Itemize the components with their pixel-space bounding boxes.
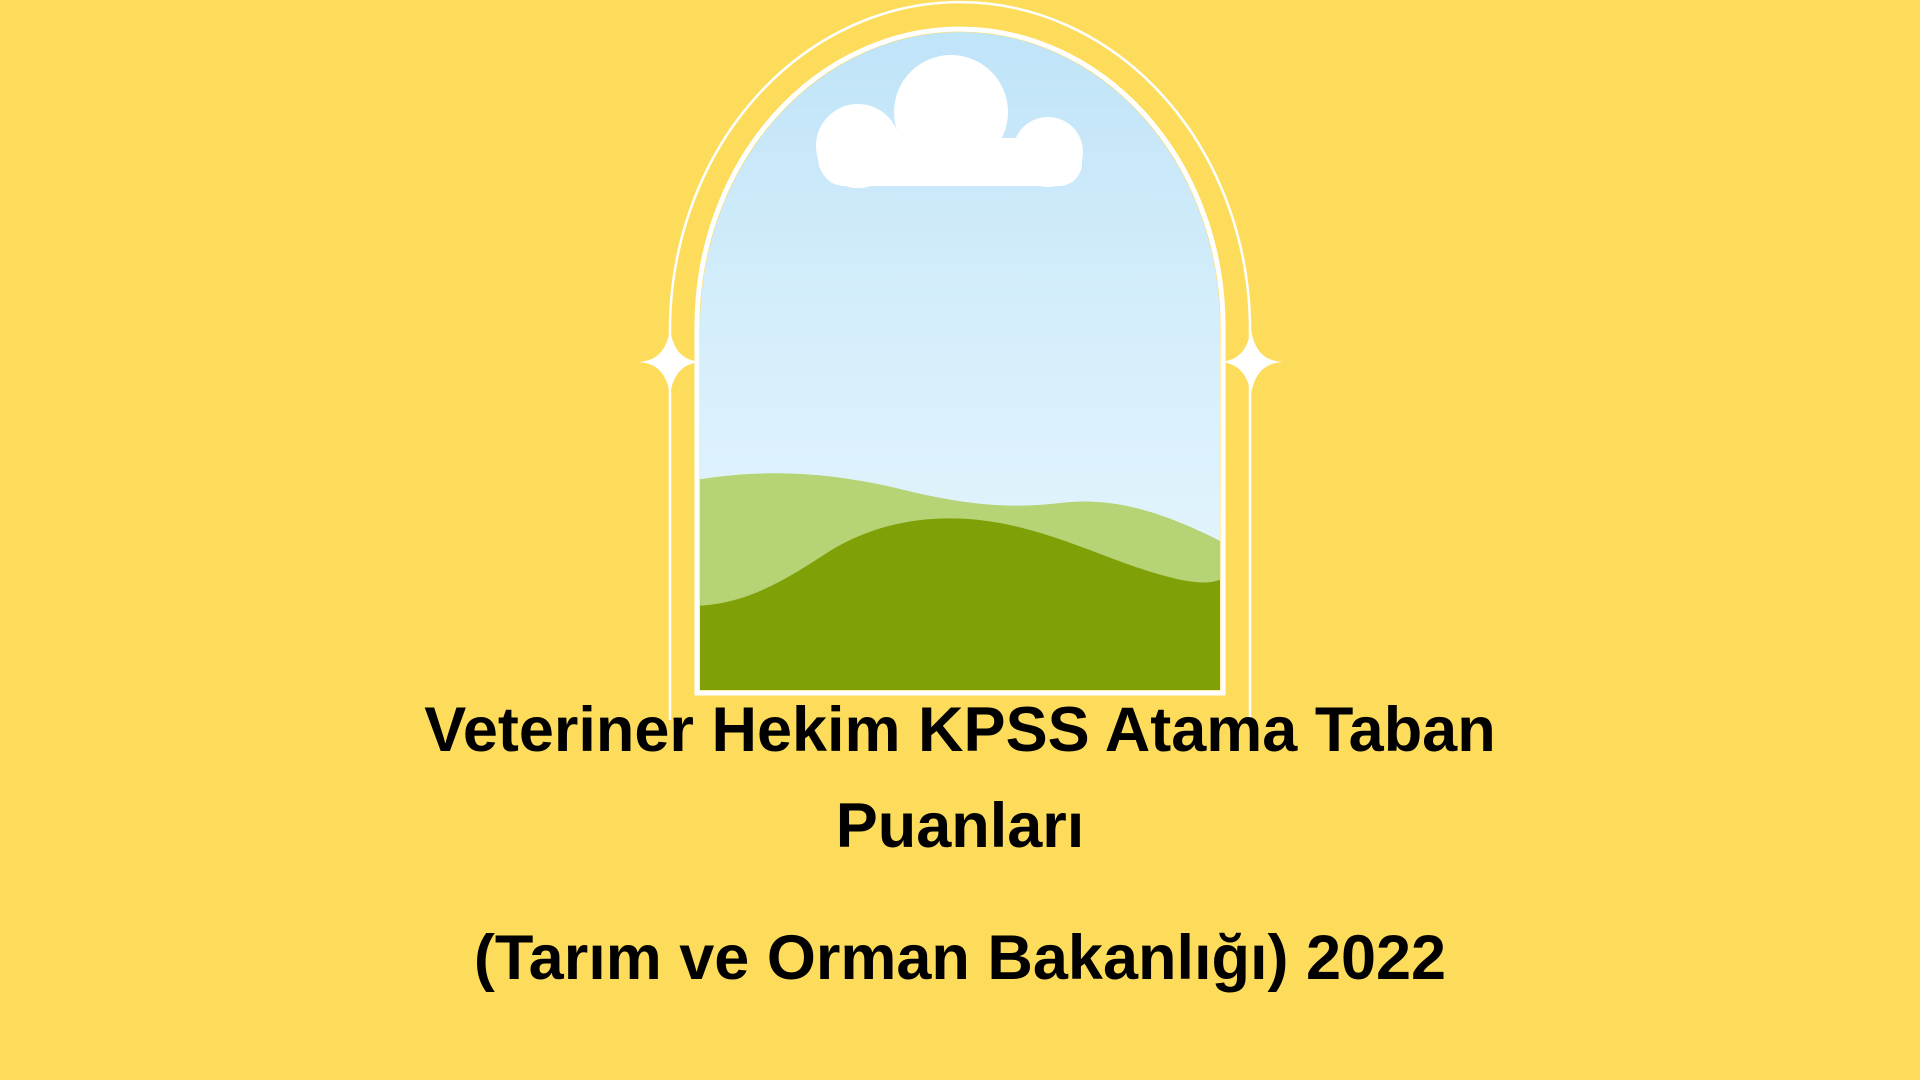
arch-scene	[690, 20, 1230, 700]
arch-window-border	[697, 29, 1223, 693]
poster-headline: Veteriner Hekim KPSS Atama Taban Puanlar…	[0, 682, 1920, 1006]
poster-canvas: Veteriner Hekim KPSS Atama Taban Puanlar…	[0, 0, 1920, 1080]
sparkle-left-icon	[638, 330, 702, 394]
headline-line-3: (Tarım ve Orman Bakanlığı) 2022	[0, 910, 1920, 1006]
headline-line-1: Veteriner Hekim KPSS Atama Taban	[0, 682, 1920, 778]
sparkle-right-icon	[1219, 330, 1283, 394]
headline-line-2: Puanları	[0, 778, 1920, 874]
sky-gradient	[690, 20, 1230, 700]
cloud-shape	[816, 55, 1083, 188]
arch-outer-ring	[670, 2, 1250, 720]
hill-dark-green	[690, 518, 1230, 700]
hill-light-green	[690, 473, 1230, 700]
